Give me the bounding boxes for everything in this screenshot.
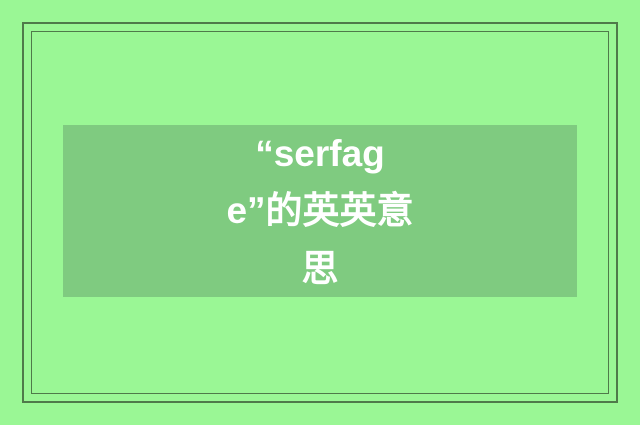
page-title: “serfage”的英英意思 — [225, 125, 415, 297]
poster-canvas: “serfage”的英英意思 — [0, 0, 640, 425]
headline-banner: “serfage”的英英意思 — [63, 125, 577, 297]
